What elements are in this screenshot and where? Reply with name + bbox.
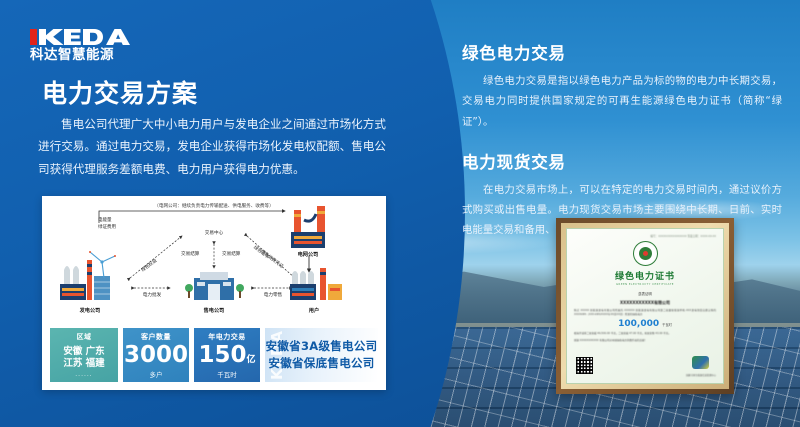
icon-grid-company <box>291 206 325 248</box>
certificate-seal-icon <box>633 241 658 266</box>
page-title: 电力交易方案 <box>42 74 198 110</box>
right-panel: 绿色电力交易 绿色电力交易是指以绿色电力产品为标的物的电力中长期交易，交易电力同… <box>462 40 782 241</box>
keda-logo-icon <box>30 26 142 48</box>
certificate-amount: 100,000 千瓦时 <box>618 319 672 329</box>
diagram-node-generation: 发电公司 <box>80 307 101 314</box>
diagram-label-wholesale: 电力批发 <box>143 292 161 298</box>
diagram-card: （电网公司：继续负责电力传输配送、供电服务、收费等） <box>42 196 386 390</box>
certificate-title: 绿色电力证书 <box>615 269 675 282</box>
certificate-body: 购买 XXXXX 新能源发电有限公司所属的 XXXXXX 新能源发电有限公司第二… <box>574 309 716 317</box>
stat-caption-customers: 客户数量 <box>141 332 171 342</box>
icon-retailer-building <box>185 272 244 300</box>
section-body-green-trading: 绿色电力交易是指以绿色电力产品为标的物的电力中长期交易，交易电力同时提供国家规定… <box>462 71 782 132</box>
region-jiangsu: 江苏 <box>63 358 82 369</box>
brand-logo-cn: 科达智慧能源 <box>30 49 150 63</box>
stat-value-annual-trade: 150亿 <box>198 344 255 367</box>
diagram-label-trading-center: 交易中心 <box>205 230 223 236</box>
certificate-paper: 编号：XXXXXXXXXXXXXXXX 签发日期：XXXX-XX-XX 绿色电力… <box>566 228 724 384</box>
slide-root: 科达智慧能源 电力交易方案 售电公司代理广大中小电力用户与发电企业之间通过市场化… <box>0 0 800 427</box>
certificate-company: XXXXXXXXXXX有限公司 <box>620 300 670 306</box>
stat-tile-customers: 客户数量 3000 多户 <box>123 328 189 382</box>
stat-tile-region: 区域 安徽 广东 江苏 福建 ...... <box>50 328 118 382</box>
diagram-label-settlement-left: 交易结算 <box>181 251 199 257</box>
region-anhui: 安徽 <box>63 346 82 357</box>
stat-tile-annual-trade: 年电力交易 150亿 千瓦时 <box>194 328 260 382</box>
certificate-issuer: 国家可再生能源信息管理中心 <box>686 373 716 377</box>
certificate-qr-code <box>576 357 593 374</box>
page-lead-paragraph: 售电公司代理广大中小电力用户与发电企业之间通过市场化方式进行交易。通过电力交易，… <box>38 113 386 180</box>
stat-caption-region: 区域 <box>77 332 92 342</box>
stat-region-more: ...... <box>75 371 92 378</box>
diagram-label-retail: 电力零售 <box>264 292 282 298</box>
section-title-green-trading: 绿色电力交易 <box>462 40 782 64</box>
stat-unit-kwh: 千瓦时 <box>217 369 237 379</box>
diagram-fee-label-2: 绿证费用 <box>98 225 116 232</box>
diagram-fee-label-1: 电能量 <box>98 218 116 225</box>
stat-tile-qualifications: KEDA 安徽省3A级售电公司 安徽省保底售电公司 <box>265 328 378 382</box>
brand-logo: 科达智慧能源 <box>30 26 150 63</box>
certificate-footer-2: 感谢 XXXXXXXXXXX 有限公司对中国绿色电力消费作出的贡献！ <box>574 339 716 343</box>
diagram-node-retailer: 售电公司 <box>204 307 225 314</box>
stat-number-annual-trade: 150 <box>198 342 246 368</box>
region-guangdong: 广东 <box>86 346 105 357</box>
stat-caption-annual-trade: 年电力交易 <box>208 332 246 342</box>
stat-value-customers: 3000 <box>124 344 188 367</box>
icon-generation-plant <box>60 251 116 300</box>
diagram-fee-labels: 电能量 绿证费用 <box>98 218 116 232</box>
certificate-badge-icon <box>692 356 709 369</box>
stat-region-values: 安徽 广东 江苏 福建 <box>63 346 104 370</box>
diagram-label-settlement-right: 交易结算 <box>222 251 240 257</box>
certificate-mat: 编号：XXXXXXXXXXXXXXXX 签发日期：XXXX-XX-XX 绿色电力… <box>561 223 729 389</box>
certificate-footer-1: 相当于减排二氧化碳 49,500.00 千克，二氧化硫 47.00 千克，氮氧化… <box>574 332 716 336</box>
icon-user-plant <box>290 268 342 300</box>
region-fujian: 福建 <box>86 358 105 369</box>
section-title-spot-trading: 电力现货交易 <box>462 149 782 173</box>
qualification-line-2: 安徽省保底售电公司 <box>268 355 374 372</box>
diagram-node-user: 用户 <box>309 307 319 314</box>
certificate-amount-unit: 千瓦时 <box>662 323 672 327</box>
stat-unit-customers: 多户 <box>150 369 163 379</box>
certificate-header-note: 编号：XXXXXXXXXXXXXXXX 签发日期：XXXX-XX-XX <box>650 234 716 238</box>
diagram-node-grid: 电网公司 <box>298 251 319 258</box>
certificate-frame: 编号：XXXXXXXXXXXXXXXX 签发日期：XXXX-XX-XX 绿色电力… <box>556 218 734 394</box>
stats-strip: 区域 安徽 广东 江苏 福建 ...... 客户数量 3000 多户 年电力交易… <box>50 328 378 382</box>
certificate-subtitle: GREEN ELECTRICITY CERTIFICATE <box>616 283 674 286</box>
stat-unit-yi: 亿 <box>247 355 256 365</box>
certificate-amount-value: 100,000 <box>618 319 659 329</box>
qualification-line-1: 安徽省3A级售电公司 <box>266 338 378 355</box>
trading-flow-diagram: （电网公司：继续负责电力传输配送、供电服务、收费等） <box>42 196 386 326</box>
certificate-statement: 兹表证明 <box>638 291 652 296</box>
